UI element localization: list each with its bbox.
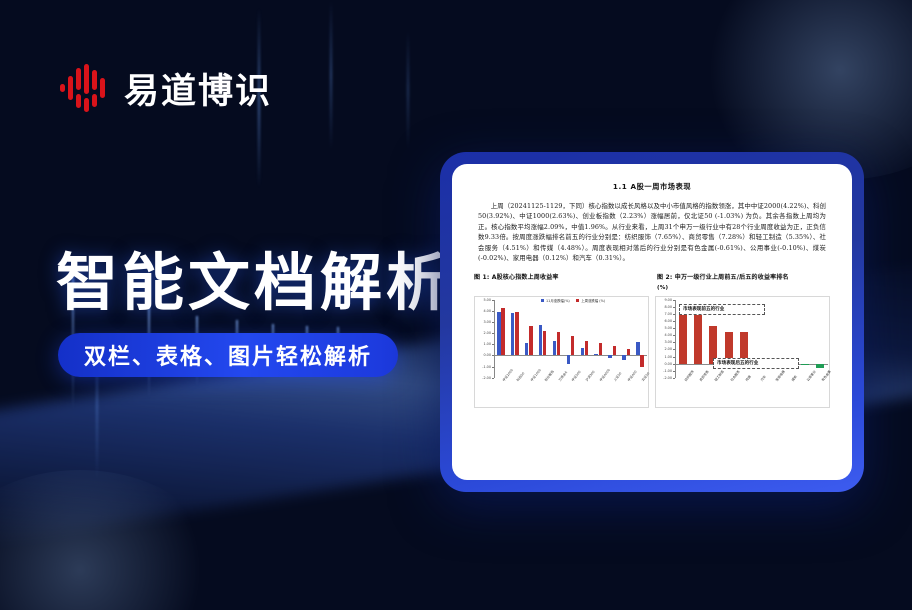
x-tick-label: 轻工制造 bbox=[706, 378, 721, 408]
bar bbox=[497, 312, 500, 356]
x-tick-label: 商贸零售 bbox=[690, 378, 705, 408]
y-tick: 3.00 bbox=[664, 340, 672, 344]
y-tick: 3.00 bbox=[483, 320, 491, 324]
bar bbox=[599, 343, 602, 355]
figure-2-caption-block: 图 2: 申万一级行业上周前五/后五的收益率排名 (%) bbox=[647, 273, 830, 293]
chart-2-x-labels: 纺织服饰商贸零售轻工制造社会服务传媒汽车家用电器煤炭公用事业有色金属 bbox=[675, 378, 828, 408]
poster-canvas: 易道博识 智能文档解析 双栏、表格、图片轻松解析 1.1 A股一周市场表现 上周… bbox=[0, 0, 912, 610]
figure-2-caption: 图 2: 申万一级行业上周前五/后五的收益率排名 bbox=[657, 273, 830, 283]
bar bbox=[613, 346, 616, 356]
chart-1-y-axis: 5.004.003.002.001.000.00-1.00-2.00 bbox=[474, 300, 494, 378]
x-tick-label: 创业板指 bbox=[536, 378, 550, 408]
bar bbox=[608, 355, 611, 358]
y-tick: 5.00 bbox=[483, 298, 491, 302]
y-tick: 6.00 bbox=[664, 319, 672, 323]
bar-group bbox=[813, 300, 828, 378]
x-tick-label: 中证2000 bbox=[494, 378, 508, 408]
bar bbox=[515, 312, 518, 356]
document-preview-frame: 1.1 A股一周市场表现 上周（20241125-1129，下同）核心指数以成长… bbox=[440, 152, 864, 492]
bar bbox=[529, 326, 532, 355]
x-tick-label: 中证500 bbox=[564, 378, 578, 408]
bar bbox=[571, 336, 574, 355]
y-tick: 9.00 bbox=[664, 298, 672, 302]
x-tick-label: 中证A500 bbox=[591, 378, 605, 408]
document-page: 1.1 A股一周市场表现 上周（20241125-1129，下同）核心指数以成长… bbox=[452, 164, 852, 480]
y-tick: 1.00 bbox=[664, 355, 672, 359]
chart-2-annotation-bottom: 市场表现后五的行业 bbox=[713, 358, 799, 369]
bar-group bbox=[564, 300, 578, 378]
chart-figure-1: 11月涨跌幅(%) 上周涨跌幅 (%) 5.004.003.002.001.00… bbox=[474, 296, 649, 408]
subtitle-pill-label: 双栏、表格、图片轻松解析 bbox=[84, 339, 372, 371]
x-tick-label: 煤炭 bbox=[782, 378, 797, 408]
document-paragraph: 上周（20241125-1129，下同）核心指数以成长风格以及中小市值风格的指数… bbox=[478, 201, 826, 263]
bar-group bbox=[577, 300, 591, 378]
figure-1-caption: 图 1: A股核心指数上周收益率 bbox=[474, 273, 647, 293]
bar-group bbox=[494, 300, 508, 378]
chart-1-x-labels: 中证2000科创50中证1000创业板指万得全A中证500沪深300中证A500… bbox=[494, 378, 647, 408]
bar bbox=[679, 309, 687, 363]
y-tick: -1.00 bbox=[482, 365, 491, 369]
background-beam bbox=[330, 0, 332, 150]
y-tick: 4.00 bbox=[664, 333, 672, 337]
subtitle-pill: 双栏、表格、图片轻松解析 bbox=[58, 333, 398, 377]
chart-2-annotation-top: 市场表现前五的行业 bbox=[679, 304, 765, 315]
bar bbox=[585, 341, 588, 355]
x-tick-label: 科创50 bbox=[508, 378, 522, 408]
x-tick-label: 纺织服饰 bbox=[675, 378, 690, 408]
background-beam bbox=[407, 30, 409, 150]
x-tick-label: 传媒 bbox=[736, 378, 751, 408]
bar bbox=[581, 348, 584, 355]
chart-figure-2: 9.008.007.006.005.004.003.002.001.000.00… bbox=[655, 296, 830, 408]
y-tick: 1.00 bbox=[483, 342, 491, 346]
x-tick-label: 万得全A bbox=[550, 378, 564, 408]
x-tick-label: 中证A50 bbox=[619, 378, 633, 408]
x-tick-label: 沪深300 bbox=[577, 378, 591, 408]
x-tick-label: 社会服务 bbox=[721, 378, 736, 408]
bar bbox=[501, 308, 504, 355]
bar-group bbox=[633, 300, 647, 378]
x-tick-label: 汽车 bbox=[751, 378, 766, 408]
y-tick: -2.00 bbox=[482, 376, 491, 380]
figure-captions: 图 1: A股核心指数上周收益率 图 2: 申万一级行业上周前五/后五的收益率排… bbox=[474, 273, 830, 293]
bar bbox=[636, 342, 639, 356]
figures-row: 11月涨跌幅(%) 上周涨跌幅 (%) 5.004.003.002.001.00… bbox=[474, 296, 830, 408]
bar bbox=[622, 355, 625, 360]
y-tick: 8.00 bbox=[664, 305, 672, 309]
y-tick: 0.00 bbox=[483, 353, 491, 357]
brand-name: 易道博识 bbox=[124, 63, 272, 114]
bar-group bbox=[522, 300, 536, 378]
bar bbox=[525, 343, 528, 356]
x-tick-label: 北证50 bbox=[633, 378, 647, 408]
chart-1-plot bbox=[494, 300, 647, 378]
bar bbox=[640, 355, 643, 366]
bar bbox=[553, 341, 556, 356]
bar bbox=[543, 331, 546, 356]
figure-2-unit: (%) bbox=[657, 284, 830, 293]
x-tick-label: 上证50 bbox=[605, 378, 619, 408]
waveform-circle-icon bbox=[58, 62, 110, 114]
x-tick-label: 家用电器 bbox=[767, 378, 782, 408]
bar bbox=[816, 364, 824, 368]
y-tick: 5.00 bbox=[664, 326, 672, 330]
brand-logo: 易道博识 bbox=[58, 62, 272, 114]
bar bbox=[594, 354, 597, 355]
bar bbox=[694, 312, 702, 364]
bar bbox=[539, 325, 542, 355]
bar-group bbox=[550, 300, 564, 378]
y-tick: 2.00 bbox=[483, 331, 491, 335]
bar-group bbox=[591, 300, 605, 378]
y-tick: 2.00 bbox=[664, 347, 672, 351]
bar bbox=[557, 332, 560, 355]
bar bbox=[567, 355, 570, 364]
page-title: 智能文档解析 bbox=[56, 252, 452, 314]
bar-group bbox=[619, 300, 633, 378]
x-tick-label: 公用事业 bbox=[797, 378, 812, 408]
bar bbox=[801, 364, 809, 365]
document-heading: 1.1 A股一周市场表现 bbox=[474, 182, 830, 192]
y-tick: -1.00 bbox=[663, 369, 672, 373]
bar-group bbox=[536, 300, 550, 378]
bar-group bbox=[508, 300, 522, 378]
y-tick: 0.00 bbox=[664, 362, 672, 366]
bar bbox=[627, 349, 630, 355]
y-tick: -2.00 bbox=[663, 376, 672, 380]
y-tick: 7.00 bbox=[664, 312, 672, 316]
bar-group bbox=[605, 300, 619, 378]
x-tick-label: 有色金属 bbox=[813, 378, 828, 408]
y-tick: 4.00 bbox=[483, 309, 491, 313]
chart-2-y-axis: 9.008.007.006.005.004.003.002.001.000.00… bbox=[655, 300, 675, 378]
bar-group bbox=[797, 300, 812, 378]
bar bbox=[511, 313, 514, 356]
x-tick-label: 中证1000 bbox=[522, 378, 536, 408]
